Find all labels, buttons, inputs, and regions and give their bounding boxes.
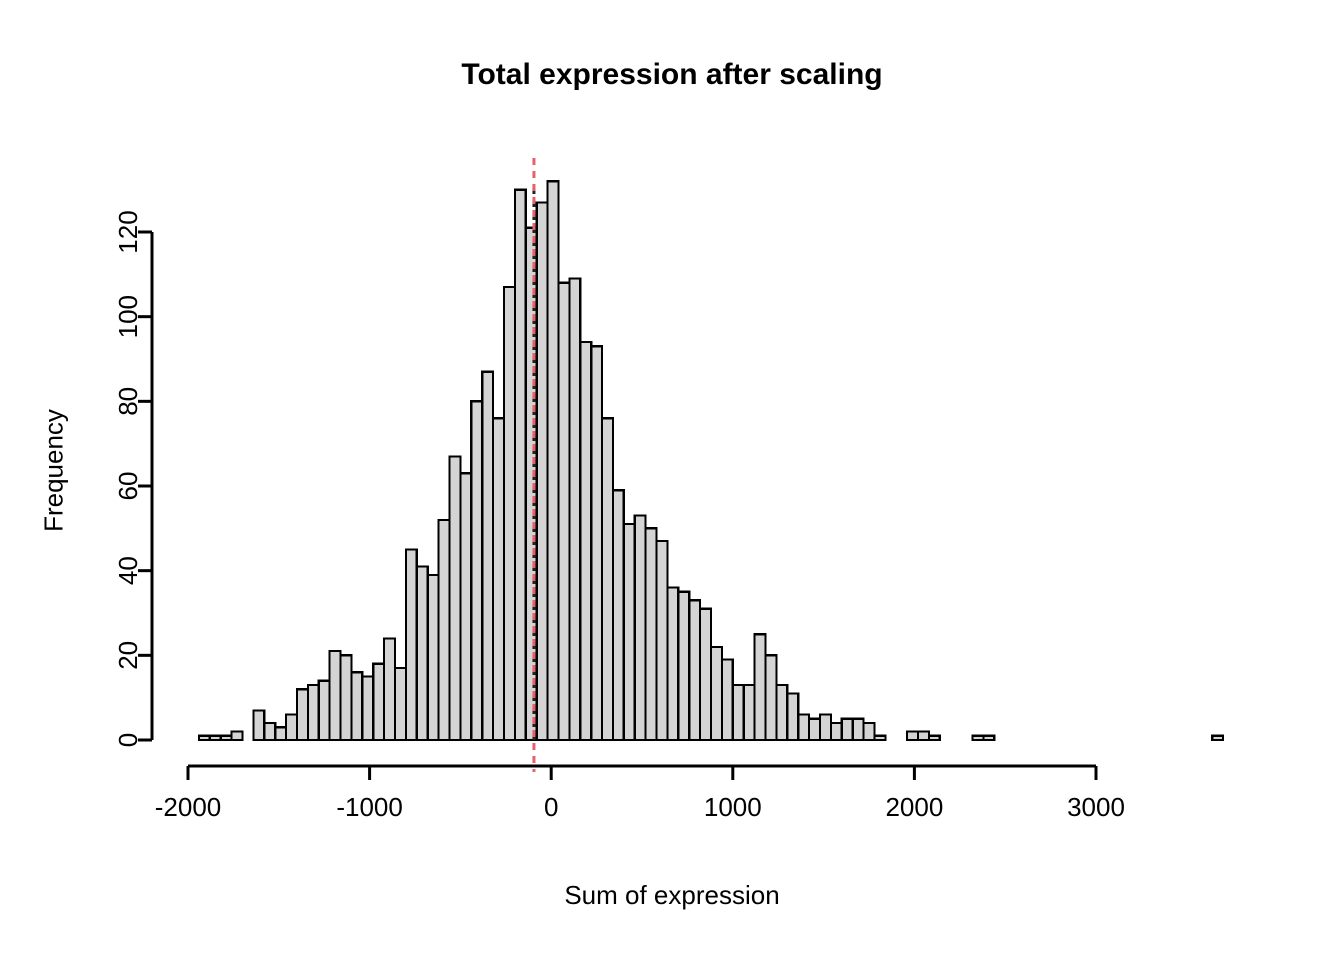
plot-canvas: 020406080100120-2000-10000100020003000	[0, 0, 1344, 960]
histogram-bar	[853, 719, 864, 740]
histogram-bar	[264, 723, 275, 740]
histogram-bar	[319, 681, 330, 740]
histogram-bar	[798, 715, 809, 740]
histogram-bar	[362, 677, 373, 741]
histogram-bar	[678, 592, 689, 740]
histogram-bar	[395, 668, 406, 740]
histogram-bar	[569, 279, 580, 740]
y-tick-label: 80	[113, 387, 143, 416]
histogram-bar	[667, 588, 678, 740]
y-axis: 020406080100120	[113, 210, 152, 747]
histogram-bar	[733, 685, 744, 740]
x-tick-label: 1000	[704, 792, 762, 822]
histogram-bar	[460, 473, 471, 740]
plot-svg: 020406080100120-2000-10000100020003000	[0, 0, 1344, 960]
histogram-bar	[221, 736, 232, 740]
histogram-bar	[613, 490, 624, 740]
histogram-bar	[558, 283, 569, 740]
histogram-bar	[864, 723, 875, 740]
histogram-bars	[199, 181, 1223, 740]
histogram-bar	[1212, 736, 1223, 740]
histogram-bar	[417, 566, 428, 740]
histogram-bar	[482, 372, 493, 740]
histogram-bar	[646, 528, 657, 740]
histogram-bar	[275, 727, 286, 740]
histogram-bar	[689, 600, 700, 740]
histogram-bar	[341, 655, 352, 740]
y-tick-label: 60	[113, 472, 143, 501]
histogram-bar	[504, 287, 515, 740]
histogram-bar	[624, 524, 635, 740]
histogram-bar	[657, 541, 668, 740]
histogram-bar	[602, 418, 613, 740]
histogram-bar	[874, 736, 885, 740]
histogram-bar	[286, 715, 297, 740]
y-tick-label: 20	[113, 641, 143, 670]
x-axis-label: Sum of expression	[0, 880, 1344, 911]
histogram-bar	[439, 520, 450, 740]
histogram-bar	[373, 664, 384, 740]
y-tick-label: 120	[113, 210, 143, 253]
y-tick-label: 0	[113, 733, 143, 747]
histogram-bar	[428, 575, 439, 740]
histogram-bar	[384, 638, 395, 740]
histogram-bar	[918, 732, 929, 740]
histogram-bar	[776, 685, 787, 740]
histogram-bar	[820, 715, 831, 740]
histogram-bar	[722, 660, 733, 740]
histogram-bar	[308, 685, 319, 740]
histogram-bar	[765, 655, 776, 740]
histogram-bar	[787, 693, 798, 740]
histogram-bar	[983, 736, 994, 740]
histogram-bar	[700, 609, 711, 740]
histogram-bar	[406, 550, 417, 741]
histogram-bar	[591, 346, 602, 740]
histogram-bar	[515, 190, 526, 740]
y-tick-label: 100	[113, 295, 143, 338]
histogram-plot: Total expression after scaling 020406080…	[0, 0, 1344, 960]
histogram-bar	[635, 516, 646, 740]
y-axis-label: Frequency	[39, 341, 70, 601]
x-tick-label: -1000	[336, 792, 403, 822]
histogram-bar	[809, 719, 820, 740]
x-tick-label: -2000	[155, 792, 222, 822]
histogram-bar	[973, 736, 984, 740]
histogram-bar	[831, 723, 842, 740]
histogram-bar	[711, 647, 722, 740]
x-axis: -2000-10000100020003000	[155, 766, 1125, 822]
histogram-bar	[537, 202, 548, 740]
histogram-bar	[744, 685, 755, 740]
histogram-bar	[471, 401, 482, 740]
histogram-bar	[232, 732, 243, 740]
histogram-bar	[907, 732, 918, 740]
histogram-bar	[253, 710, 264, 740]
histogram-bar	[842, 719, 853, 740]
histogram-bar	[755, 634, 766, 740]
histogram-bar	[210, 736, 221, 740]
histogram-bar	[351, 672, 362, 740]
histogram-bar	[929, 736, 940, 740]
histogram-bar	[330, 651, 341, 740]
histogram-bar	[297, 689, 308, 740]
x-tick-label: 2000	[885, 792, 943, 822]
histogram-bar	[580, 342, 591, 740]
histogram-bar	[493, 418, 504, 740]
histogram-bar	[450, 456, 461, 740]
x-tick-label: 3000	[1067, 792, 1125, 822]
histogram-bar	[548, 181, 559, 740]
y-tick-label: 40	[113, 556, 143, 585]
x-tick-label: 0	[544, 792, 558, 822]
histogram-bar	[199, 736, 210, 740]
